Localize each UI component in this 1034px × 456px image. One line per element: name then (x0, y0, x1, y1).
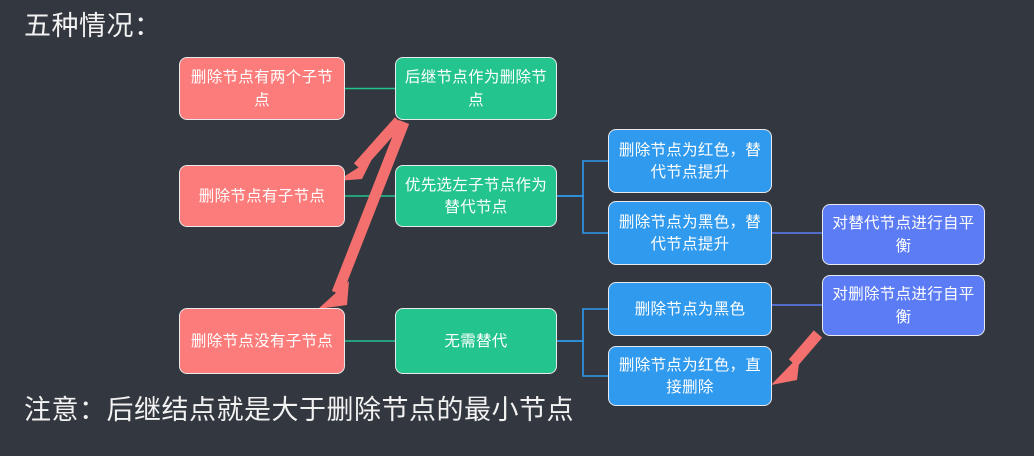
node-no-replace-needed[interactable]: 无需替代 (395, 308, 557, 374)
node-case-no-child[interactable]: 删除节点没有子节点 (179, 308, 345, 374)
node-case-one-child[interactable]: 删除节点有子节点 (179, 165, 345, 227)
connector-no-replace-to-red-direct (557, 341, 608, 376)
footnote-text: 注意：后继结点就是大于删除节点的最小节点 (24, 396, 574, 426)
node-label: 删除节点为黑色，替代节点提升 (617, 211, 763, 256)
node-deleted-is-black[interactable]: 删除节点为黑色 (608, 282, 772, 336)
node-rebalance-replacement[interactable]: 对替代节点进行自平衡 (822, 204, 985, 265)
node-label: 删除节点为红色，直接删除 (617, 354, 763, 399)
node-label: 删除节点没有子节点 (188, 330, 336, 352)
node-deleted-is-black-promote[interactable]: 删除节点为黑色，替代节点提升 (608, 201, 772, 265)
connector-prefer-left-to-black-promote (557, 196, 608, 233)
node-deleted-is-red-direct[interactable]: 删除节点为红色，直接删除 (608, 346, 772, 406)
node-rebalance-deleted[interactable]: 对删除节点进行自平衡 (822, 275, 985, 336)
node-label: 对删除节点进行自平衡 (831, 283, 976, 328)
node-label: 删除节点有子节点 (188, 185, 336, 207)
page-title: 五种情况： (24, 12, 162, 42)
connector-no-replace-to-black (557, 309, 608, 341)
node-successor-as-delete[interactable]: 后继节点作为删除节点 (395, 57, 557, 120)
node-label: 对替代节点进行自平衡 (831, 212, 976, 257)
diagram-canvas: 五种情况： 删除节点有两个子节点 删除节点有子节点 (0, 0, 1034, 456)
node-case-two-children[interactable]: 删除节点有两个子节点 (179, 57, 345, 120)
connector-prefer-left-to-red-promote (557, 161, 608, 196)
node-label: 后继节点作为删除节点 (404, 66, 548, 111)
node-label: 删除节点有两个子节点 (188, 66, 336, 111)
node-label: 优先选左子节点作为替代节点 (404, 174, 548, 219)
node-label: 删除节点为黑色 (617, 298, 763, 320)
arrow-rebalance-to-red-direct (771, 334, 818, 385)
node-deleted-is-red-promote[interactable]: 删除节点为红色，替代节点提升 (608, 129, 772, 193)
node-label: 无需替代 (404, 330, 548, 352)
node-prefer-left-child[interactable]: 优先选左子节点作为替代节点 (395, 165, 557, 227)
node-label: 删除节点为红色，替代节点提升 (617, 139, 763, 184)
arrow-successor-to-one-child (337, 121, 399, 181)
